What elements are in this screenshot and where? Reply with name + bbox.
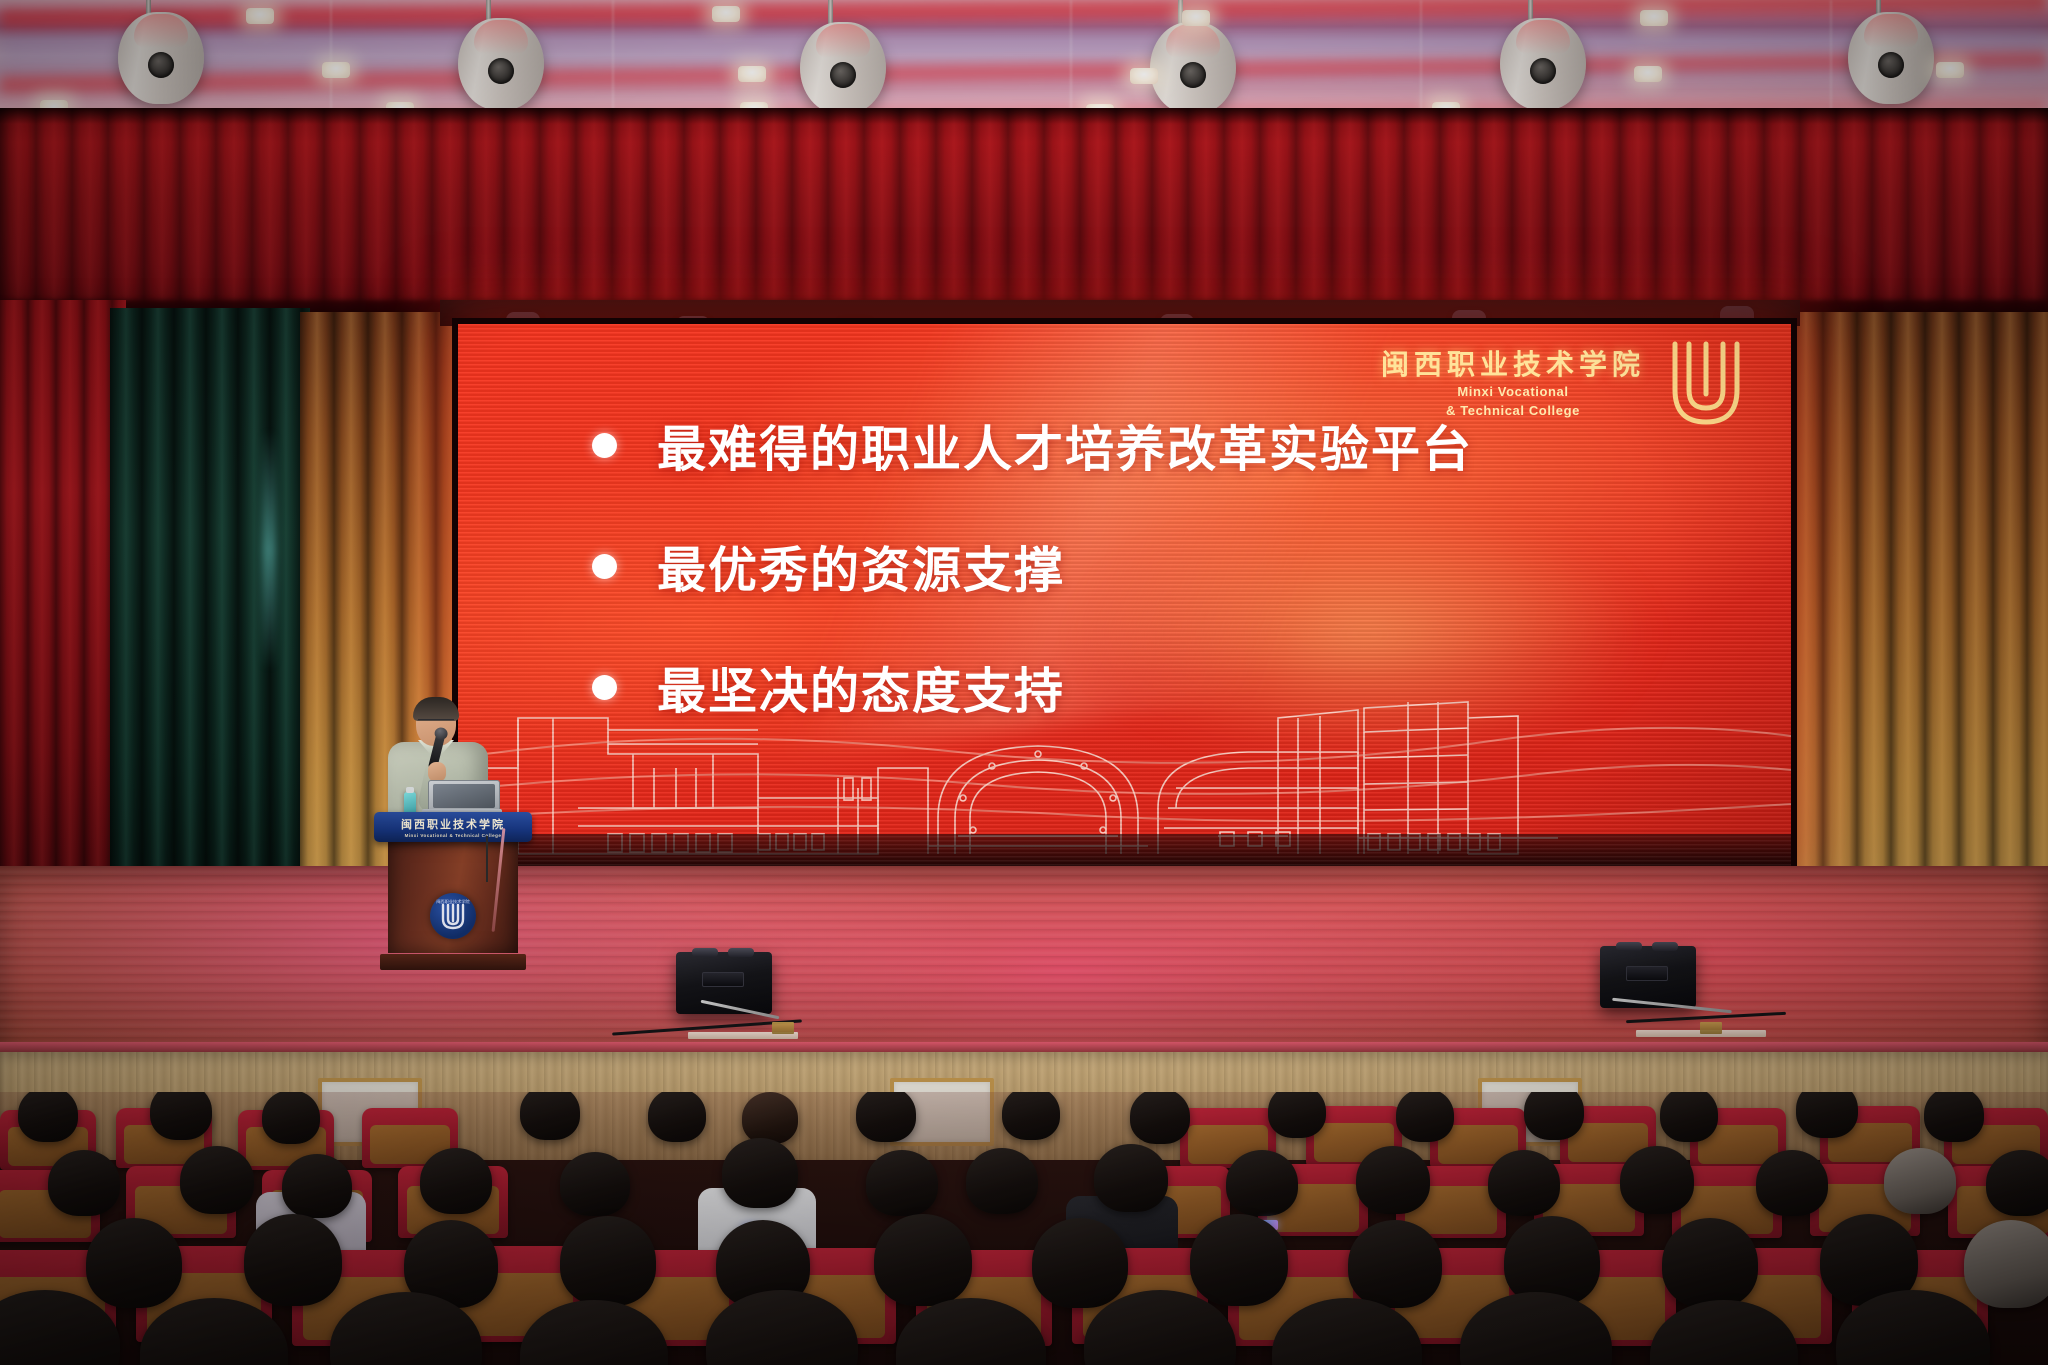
audience-head <box>282 1154 352 1218</box>
audience-head <box>1660 1092 1718 1142</box>
ceiling <box>0 0 2048 120</box>
curtain-teal-highlight <box>262 430 276 670</box>
slide-bullet-text: 最优秀的资源支撑 <box>657 531 1065 602</box>
podium-banner: 闽西职业技术学院 Minxi Vocational & Technical Co… <box>374 812 532 842</box>
floor-cable-anchor <box>1700 1022 1722 1034</box>
audience-head <box>150 1092 212 1140</box>
ceiling-ac-unit <box>1848 12 1934 104</box>
audience-head <box>1884 1148 1956 1214</box>
laptop-lid <box>428 780 500 812</box>
audience-head <box>1796 1092 1858 1138</box>
audience-head <box>1130 1092 1190 1144</box>
ceiling-downlight <box>738 66 766 82</box>
audience-head <box>866 1150 938 1216</box>
audience-head <box>1620 1146 1694 1214</box>
audience-head <box>1756 1150 1828 1216</box>
bullet-dot-icon <box>592 433 617 458</box>
ceiling-seam <box>1070 0 1072 120</box>
ceiling-downlight <box>1634 66 1662 82</box>
slide-bullet-text: 最坚决的态度支持 <box>657 652 1065 723</box>
slide-bullet-item: 最坚决的态度支持 <box>592 652 1711 723</box>
glasses-icon <box>418 719 454 727</box>
audience-head <box>1268 1092 1326 1138</box>
audience-head <box>1226 1150 1298 1216</box>
podium: 闽西职业技术学院 闽西职业技术学院 Minxi Vocational & Tec… <box>374 812 532 970</box>
bullet-dot-icon <box>592 675 617 700</box>
ceiling-downlight <box>1130 68 1158 84</box>
audience-head <box>1032 1218 1128 1308</box>
audience-head <box>262 1092 320 1144</box>
ceiling-seam <box>330 0 332 120</box>
speaker-hair <box>413 697 459 721</box>
audience-head <box>1488 1150 1560 1216</box>
audience-head <box>722 1138 798 1208</box>
monitor-connector-panel <box>702 972 744 987</box>
audience-head <box>1190 1214 1288 1306</box>
podium-mic-stand <box>486 836 488 882</box>
audience-head <box>180 1146 254 1214</box>
audience-head <box>742 1092 798 1144</box>
screen-logo-cn: 闽西职业技术学院 <box>1381 351 1645 380</box>
ceiling-ac-unit <box>1500 18 1586 110</box>
audience-head <box>966 1148 1038 1214</box>
speaker-hand <box>428 762 446 782</box>
slide-bullet-text: 最难得的职业人才培养改革实验平台 <box>657 410 1473 481</box>
audience-head <box>1662 1218 1758 1308</box>
stage-valance <box>0 108 2048 323</box>
left-red-curtain <box>0 300 126 940</box>
audience-head <box>18 1092 78 1142</box>
slide-bullet-item: 最优秀的资源支撑 <box>592 531 1711 602</box>
bullet-dot-icon <box>592 554 617 579</box>
audience-head <box>1094 1144 1168 1212</box>
ceiling-downlight <box>1640 10 1668 26</box>
audience-area <box>0 1092 2048 1365</box>
ceiling-downlight <box>1936 62 1964 78</box>
slide-bullet-item: 最难得的职业人才培养改革实验平台 <box>592 410 1711 481</box>
stage-floor-grain <box>0 866 2048 1056</box>
audience-head <box>244 1214 342 1306</box>
audience-head <box>856 1092 916 1142</box>
audience-head <box>48 1150 120 1216</box>
audience-head <box>1964 1220 2048 1308</box>
audience-head <box>1924 1092 1984 1142</box>
audience-head <box>874 1214 972 1306</box>
ceiling-seam <box>1420 0 1422 120</box>
ceiling-downlight <box>246 8 274 24</box>
audience-head <box>1396 1092 1454 1142</box>
led-screen: 闽西职业技术学院 Minxi Vocational & Technical Co… <box>452 318 1797 874</box>
laptop-screen <box>433 784 495 808</box>
podium-banner-cn: 闽西职业技术学院 <box>401 816 505 832</box>
podium-base <box>380 954 526 970</box>
screen-logo-text: 闽西职业技术学院 Minxi Vocational & Technical Co… <box>1381 351 1645 418</box>
audience-head <box>1986 1150 2048 1216</box>
podium-seal-mark: 闽西职业技术学院 <box>430 893 476 939</box>
floor-cable-anchor <box>772 1022 794 1034</box>
audience-head <box>1356 1146 1430 1214</box>
slide-bullet-list: 最难得的职业人才培养改革实验平台 最优秀的资源支撑 最坚决的态度支持 <box>592 410 1711 773</box>
audience-head <box>648 1092 706 1142</box>
auditorium-photo: 闽西职业技术学院 Minxi Vocational & Technical Co… <box>0 0 2048 1365</box>
ceiling-ac-unit <box>118 12 204 104</box>
audience-head <box>86 1218 182 1308</box>
audience-head <box>1348 1220 1442 1308</box>
audience-head <box>560 1216 656 1306</box>
screen-logo-en-line1: Minxi Vocational <box>1381 385 1645 399</box>
monitor-connector-panel <box>1626 966 1668 981</box>
ceiling-downlight <box>322 62 350 78</box>
svg-text:闽西职业技术学院: 闽西职业技术学院 <box>436 898 470 905</box>
audience-head <box>1002 1092 1060 1140</box>
u-monogram-circle-icon: 闽西职业技术学院 <box>430 893 476 939</box>
audience-head <box>560 1152 630 1216</box>
led-screen-surface: 闽西职业技术学院 Minxi Vocational & Technical Co… <box>458 324 1791 868</box>
ceiling-ac-unit <box>458 18 544 110</box>
ceiling-ac-unit <box>1150 22 1236 114</box>
ceiling-downlight <box>712 6 740 22</box>
stage-floor <box>0 866 2048 1056</box>
audience-head <box>520 1092 580 1140</box>
audience-head <box>420 1148 492 1214</box>
ceiling-downlight <box>1182 10 1210 26</box>
ceiling-seam <box>612 0 614 120</box>
ceiling-seam <box>1830 0 1832 120</box>
ceiling-red-light-band <box>0 0 2048 31</box>
audience-head <box>1524 1092 1584 1140</box>
left-green-curtain <box>110 308 310 948</box>
valance-top-shadow <box>0 108 2048 124</box>
ceiling-ac-unit <box>800 22 886 114</box>
